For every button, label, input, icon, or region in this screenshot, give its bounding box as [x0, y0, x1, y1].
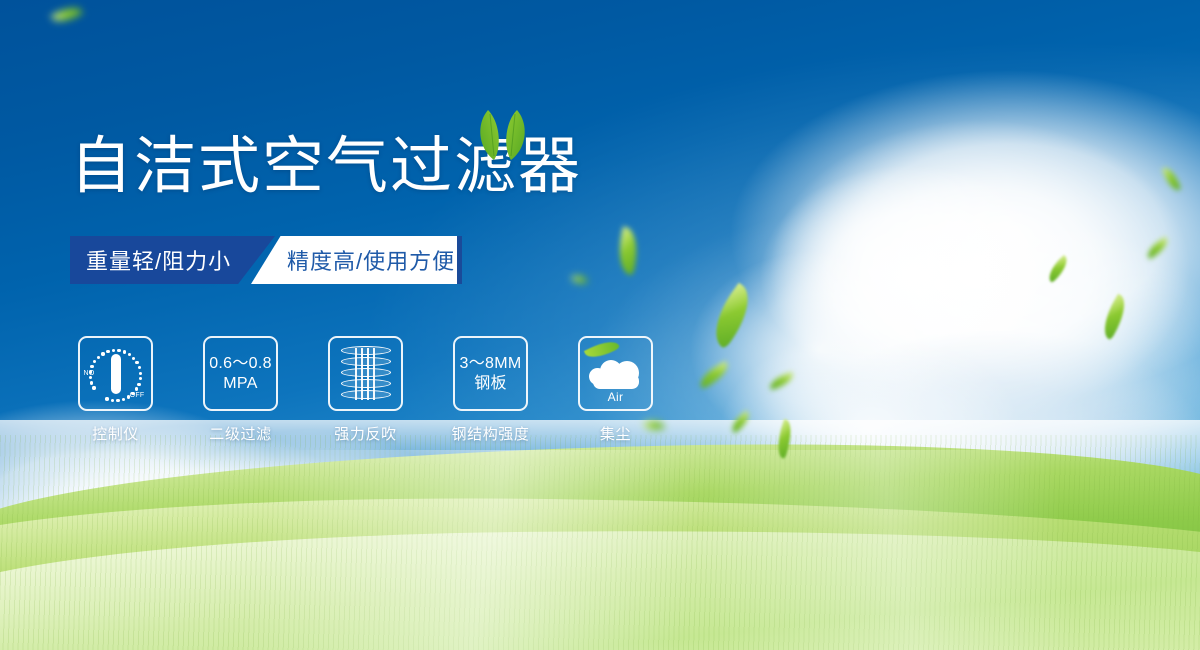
gauge-tick-dot	[112, 349, 115, 352]
cartridge-disc	[341, 357, 391, 366]
feature-label: 集尘	[600, 423, 631, 444]
gauge-tick-dot	[138, 366, 141, 369]
subtitle-right-text: 精度高/使用方便	[287, 244, 455, 276]
cartridge-disc	[341, 368, 391, 377]
gauge-tick-dot	[137, 383, 140, 386]
gauge-tick-dot	[97, 356, 100, 359]
gauge-tick-dot	[116, 399, 119, 402]
subtitle-bar: 重量轻/阻力小 精度高/使用方便	[70, 236, 462, 284]
feature-item-dust[interactable]: Air 集尘	[578, 336, 653, 444]
air-caption: Air	[587, 390, 645, 404]
feature-item-steel[interactable]: 3～8MM 钢板 钢结构强度	[453, 336, 528, 444]
cartridge-disc	[341, 390, 391, 399]
gauge-tick-dot	[111, 399, 114, 402]
feature-list: NO OFF 控制仪 0.6～0.8 MPA 二级过滤	[78, 336, 653, 444]
feature-icon-box: Air	[578, 336, 653, 411]
feature-icon-box	[328, 336, 403, 411]
filter-cartridge-icon	[341, 346, 391, 402]
feature-label: 二级过滤	[209, 423, 271, 444]
cartridge-disc	[341, 379, 391, 388]
feature-icon-box: NO OFF	[78, 336, 153, 411]
gauge-tick-dot	[90, 381, 93, 384]
gauge-tick-dot	[123, 350, 126, 353]
feature-item-control[interactable]: NO OFF 控制仪	[78, 336, 153, 444]
grass-field	[0, 420, 1200, 650]
subtitle-left-text: 重量轻/阻力小	[86, 244, 231, 276]
promo-banner: 自洁式空气过滤器 重量轻/阻力小	[0, 0, 1200, 650]
gauge-tick-dot	[139, 377, 142, 380]
control-gauge-icon: NO OFF	[85, 345, 147, 403]
gauge-tick-dot	[90, 365, 93, 368]
cloud-base	[593, 374, 639, 389]
pressure-line-1: 0.6～0.8	[209, 354, 272, 374]
gauge-tick-dot	[127, 395, 130, 398]
feature-icon-box: 3～8MM 钢板	[453, 336, 528, 411]
feature-label: 钢结构强度	[452, 423, 530, 444]
feature-label: 控制仪	[92, 423, 139, 444]
gauge-tick-dot	[105, 397, 108, 400]
gauge-needle	[111, 354, 121, 394]
gauge-tick-dot	[135, 387, 138, 390]
gauge-tick-dot	[92, 386, 95, 389]
cartridge-disc	[341, 346, 391, 355]
gauge-tick-dot	[128, 353, 131, 356]
gauge-tick-dot	[89, 376, 92, 379]
feature-icon-box: 0.6～0.8 MPA	[203, 336, 278, 411]
feature-label: 强力反吹	[334, 423, 396, 444]
gauge-tick-dot	[122, 398, 125, 401]
subtitle-right-edge	[457, 236, 462, 284]
gauge-tick-dot	[106, 350, 109, 353]
gauge-tick-dot	[101, 352, 104, 355]
sprout-leaves-icon	[470, 108, 534, 162]
steel-line-2: 钢板	[474, 374, 507, 394]
leaf-streak	[583, 336, 619, 363]
gauge-tick-dot	[135, 361, 138, 364]
subtitle-segment-left: 重量轻/阻力小	[70, 236, 275, 284]
steel-line-1: 3～8MM	[460, 354, 522, 374]
gauge-tick-dot	[93, 360, 96, 363]
pressure-line-2: MPA	[223, 374, 257, 394]
air-cloud-icon: Air	[587, 349, 645, 399]
feature-item-pressure[interactable]: 0.6～0.8 MPA 二级过滤	[203, 336, 278, 444]
gauge-tick-dot	[117, 349, 120, 352]
gauge-tick-dot	[139, 372, 142, 375]
feature-item-backblow[interactable]: 强力反吹	[328, 336, 403, 444]
gauge-tick-dot	[132, 357, 135, 360]
subtitle-segment-right: 精度高/使用方便	[251, 236, 462, 284]
gauge-tick-dot	[131, 392, 134, 395]
